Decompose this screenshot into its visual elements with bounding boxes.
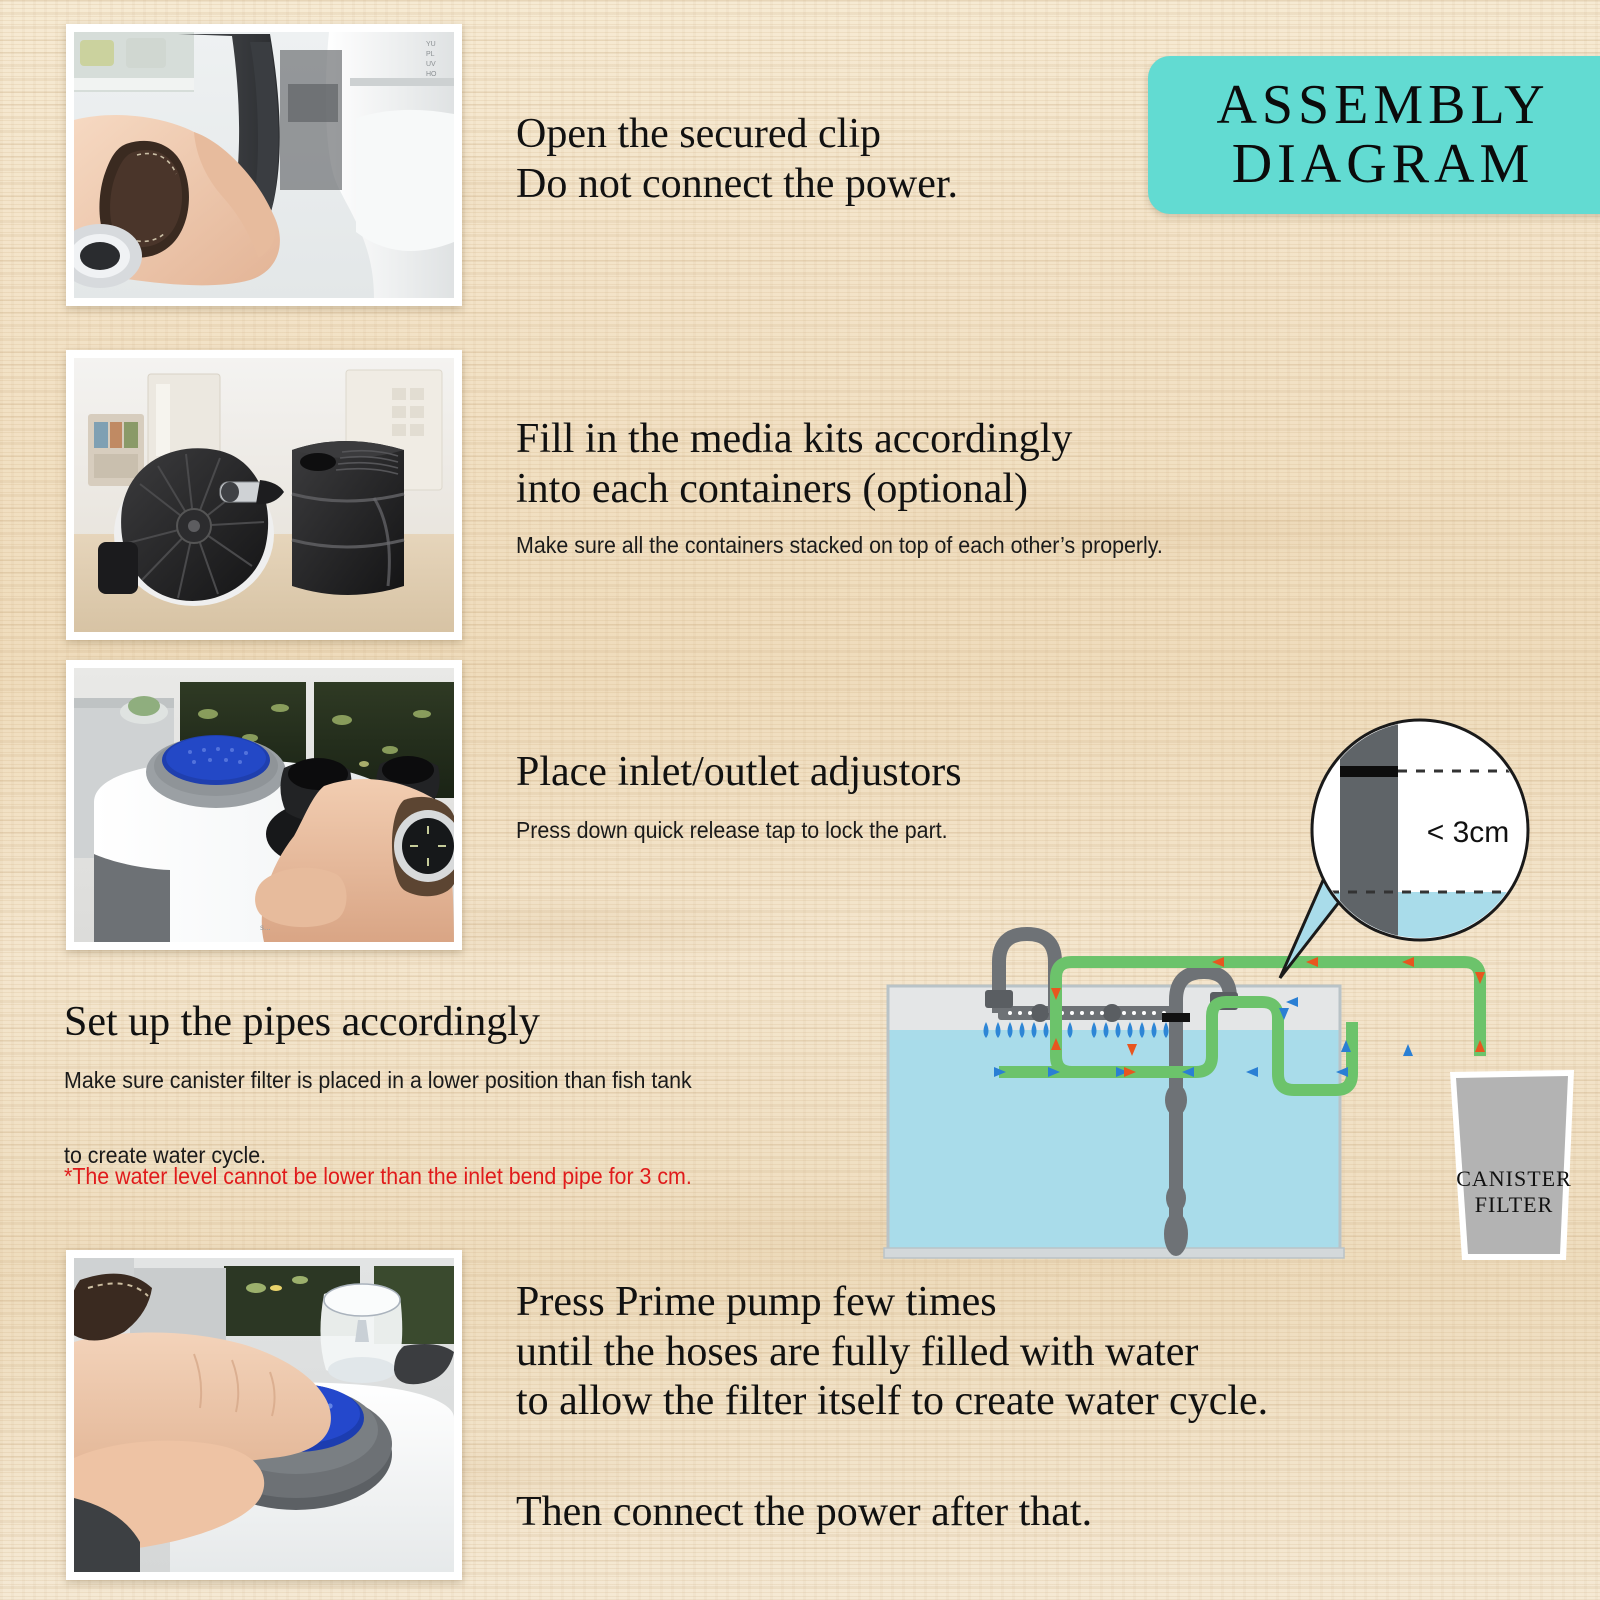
photo-step-1-image: YU PL UV HO [74,32,454,298]
photo-step-2 [66,350,462,640]
canister-filter: CANISTER FILTER [1450,1070,1574,1260]
svg-text:YU: YU [426,41,436,48]
svg-text:s...: s... [260,923,271,932]
step-5-headline: Press Prime pump few times until the hos… [516,1278,1436,1427]
banner-line-1: ASSEMBLY [1216,76,1549,135]
step-4-warning: *The water level cannot be lower than th… [64,1158,882,1195]
photo-step-3: s... [66,660,462,950]
water-level-callout: < 3cm [1280,710,1528,978]
step-4-headline: Set up the pipes accordingly [64,998,824,1048]
outlet-clamp [985,990,1013,1008]
aquarium-pipe-diagram: CANISTER FILTER < 3cm [880,700,1600,1260]
canister-filter-label-1: CANISTER [1456,1166,1572,1191]
banner-line-2: DIAGRAM [1232,135,1535,194]
svg-text:HO: HO [426,71,437,78]
step-2-subtext: Make sure all the containers stacked on … [516,527,1353,564]
svg-text:PL: PL [426,51,435,58]
svg-text:UV: UV [426,61,436,68]
step-4-subtext: Make sure canister filter is placed in a… [64,1062,864,1174]
photo-step-5 [66,1250,462,1580]
step-1-headline: Open the secured clip Do not connect the… [516,110,1176,209]
photo-step-3-image: s... [74,668,454,942]
photo-step-2-image [74,358,454,632]
photo-step-5-image [74,1258,454,1572]
callout-label: < 3cm [1427,816,1510,849]
photo-step-1: YU PL UV HO [66,24,462,306]
inlet-water-line-mark [1162,1013,1190,1022]
assembly-diagram-banner: ASSEMBLY DIAGRAM [1148,56,1600,214]
step-5-headline-2: Then connect the power after that. [516,1488,1436,1538]
step-2-headline: Fill in the media kits accordingly into … [516,415,1296,514]
canister-filter-label-2: FILTER [1475,1192,1554,1217]
